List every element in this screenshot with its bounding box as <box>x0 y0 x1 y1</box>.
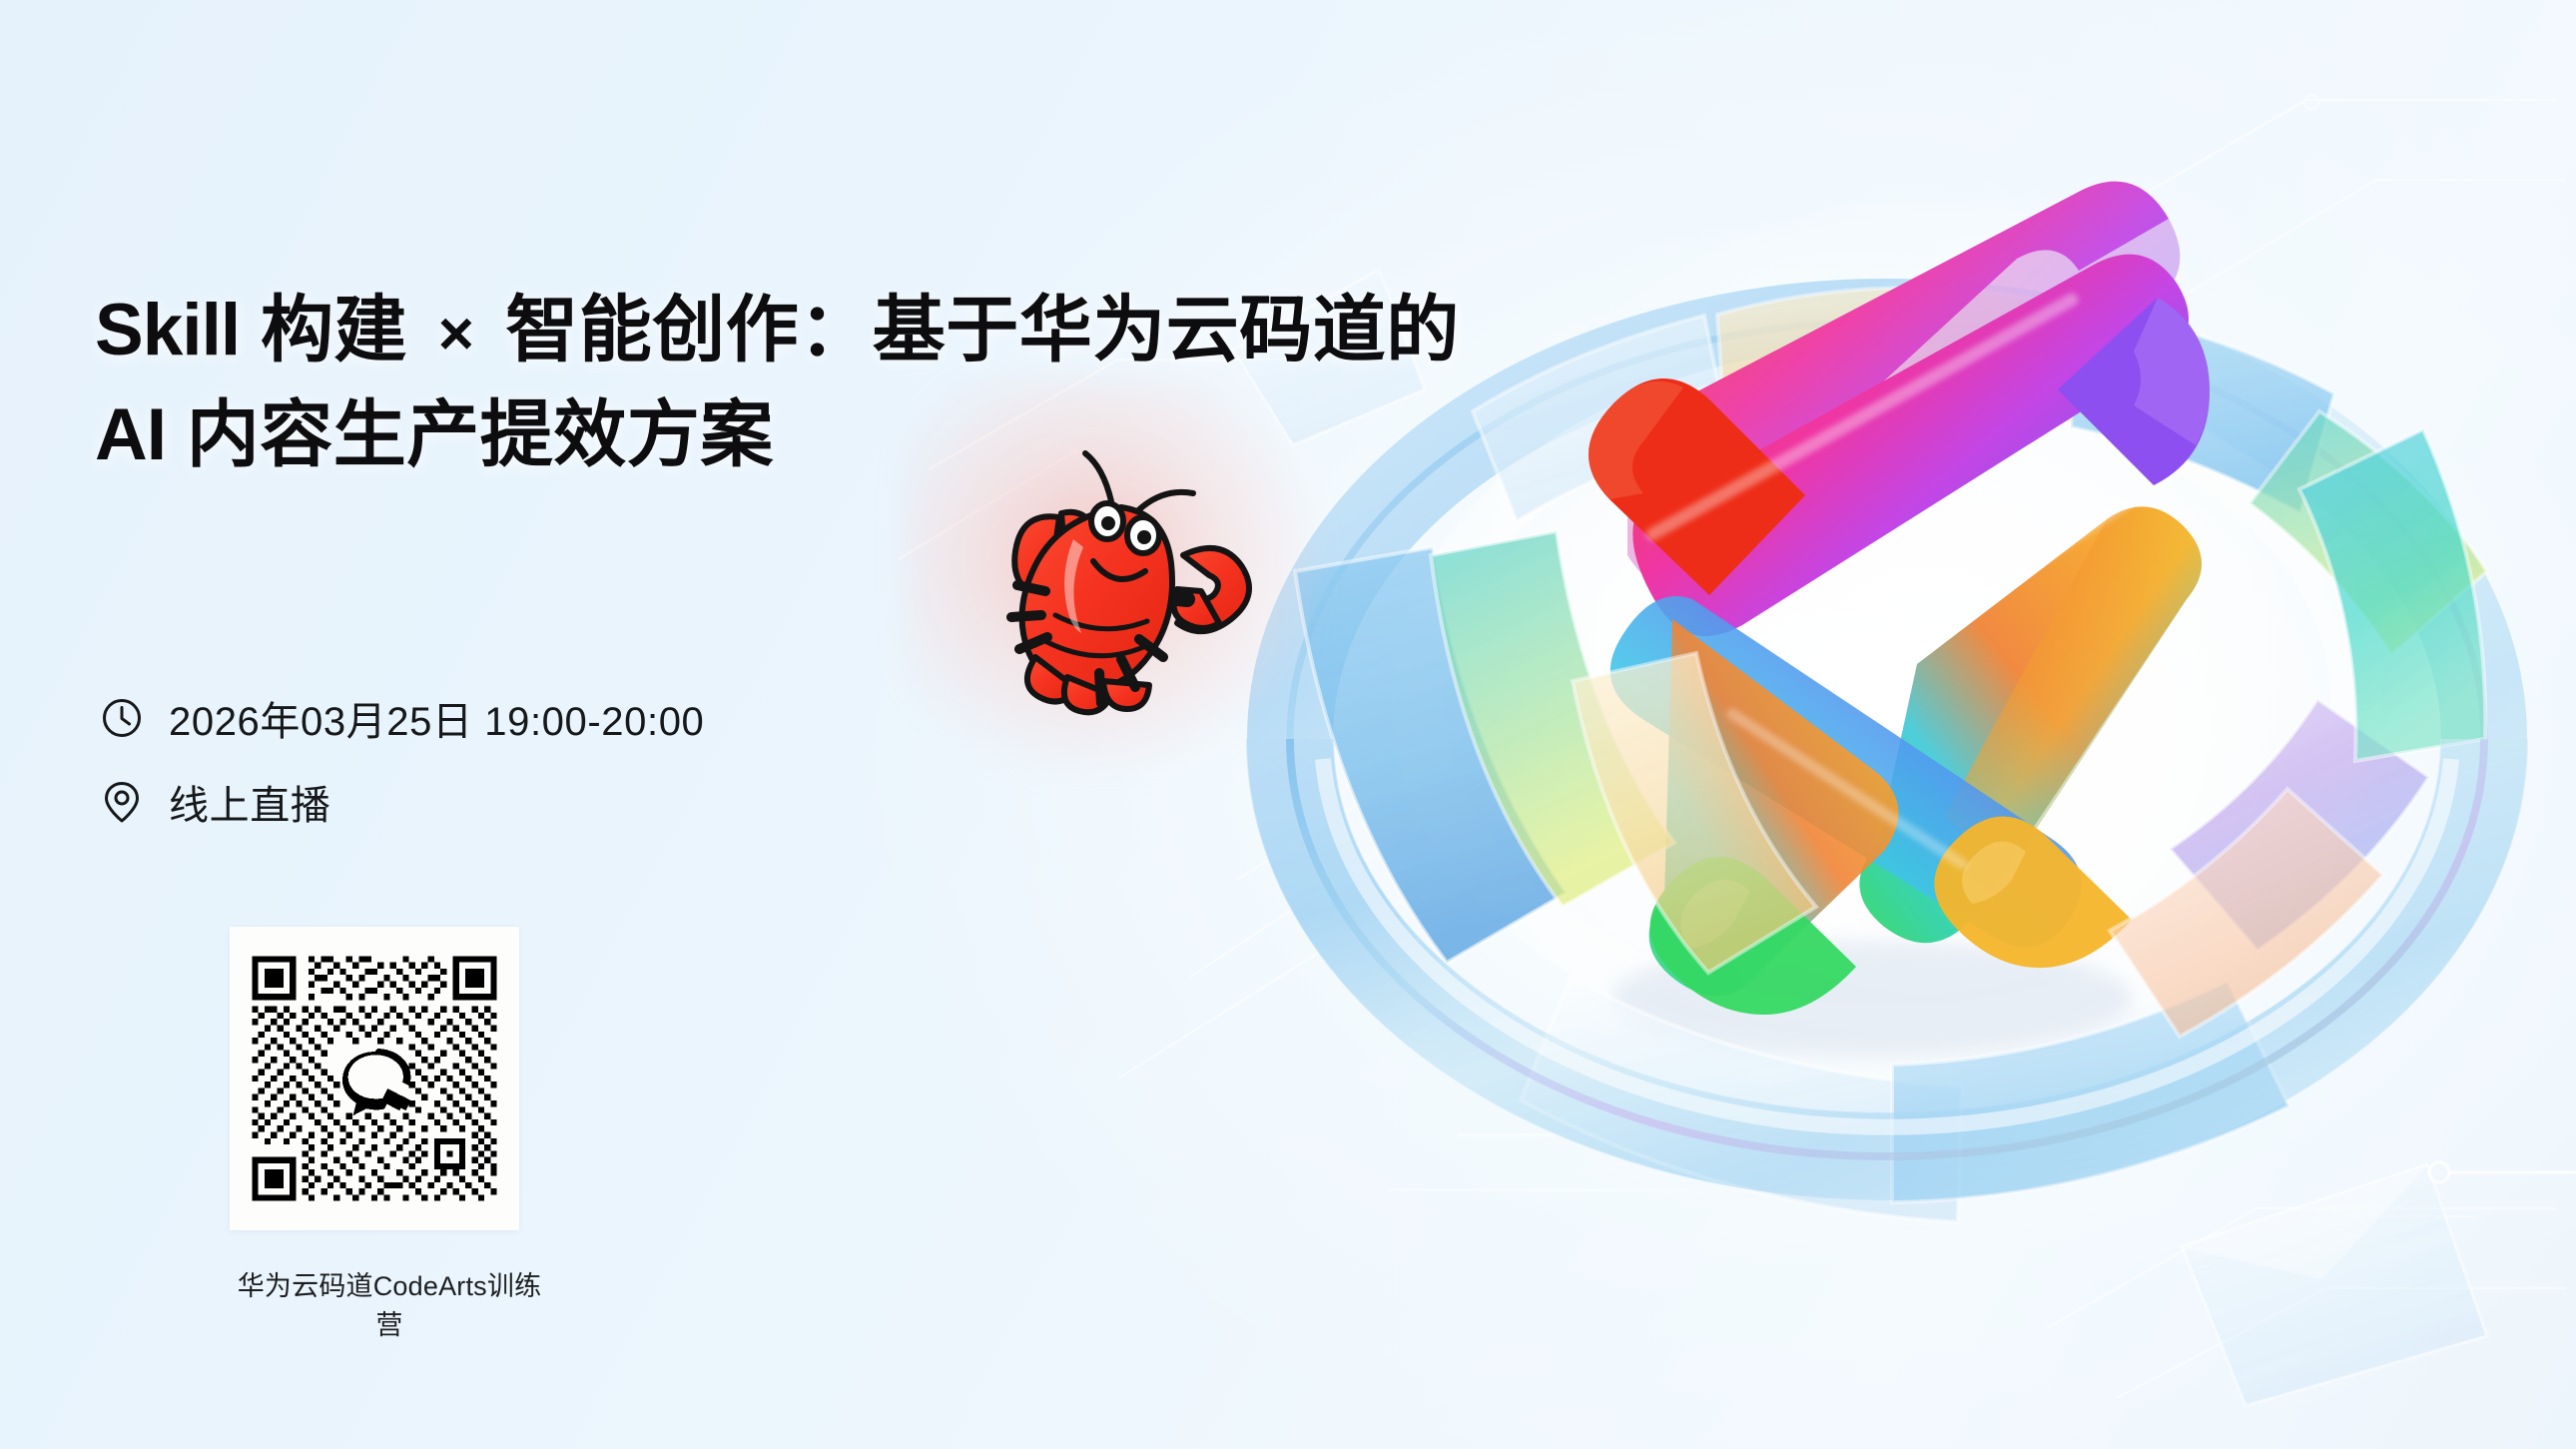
glass-ring-front <box>1290 739 2484 1156</box>
qr-code-image[interactable] <box>246 950 503 1207</box>
webinar-banner: Skill 构建 × 智能创作：基于华为云码道的 AI 内容生产提效方案 202… <box>0 0 2576 1449</box>
glass-tiles-back <box>1473 288 2487 655</box>
title-line-2-rest: 内容生产提效方案 <box>187 394 774 475</box>
event-meta: 2026年03月25日 19:00-20:00 线上直播 <box>101 689 704 831</box>
title-cross-symbol: × <box>428 300 485 368</box>
location-pin-icon <box>101 779 143 825</box>
title-line-1-latin: Skill <box>95 290 240 370</box>
floating-glass-prisms <box>1233 270 2487 1406</box>
event-datetime-row: 2026年03月25日 19:00-20:00 <box>101 689 704 747</box>
gradient-ribbon-sculpture <box>1589 182 2210 1057</box>
title-line-1-word1: 构建 <box>261 290 407 370</box>
circuit-node <box>2429 1162 2576 1182</box>
qr-caption: 华为云码道CodeArts训练营 <box>230 1264 549 1342</box>
clock-icon <box>101 697 143 739</box>
event-location-text: 线上直播 <box>169 773 330 831</box>
event-datetime-text: 2026年03月25日 19:00-20:00 <box>169 689 704 747</box>
qr-block: 华为云码道CodeArts训练营 <box>230 927 549 1342</box>
glass-ring-back <box>1290 322 2484 1156</box>
speech-bubble-icon <box>339 1044 410 1115</box>
qr-code[interactable] <box>230 927 519 1230</box>
title-line-1-rest: 智能创作：基于华为云码道的 <box>505 290 1460 370</box>
artwork-glow <box>1428 180 2426 1178</box>
codearts-3d-artwork <box>1173 0 2576 1449</box>
title-line-2-latin: AI <box>95 394 166 475</box>
glass-tiles-front <box>1295 429 2485 1222</box>
event-location-row: 线上直播 <box>101 773 704 831</box>
lobster-mascot <box>964 439 1253 719</box>
title-line-1: Skill 构建 × 智能创作：基于华为云码道的 <box>95 278 1213 382</box>
